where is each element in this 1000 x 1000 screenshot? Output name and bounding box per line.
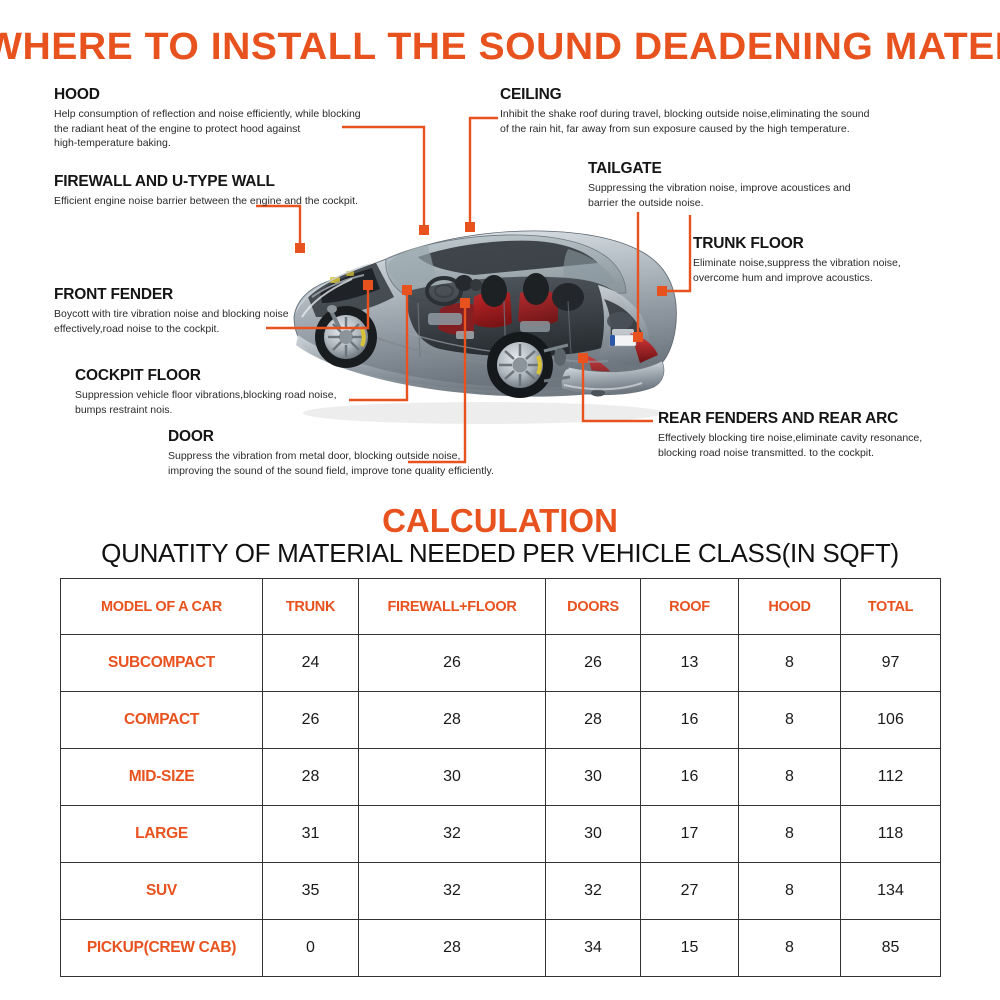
cell-model: LARGE bbox=[61, 806, 263, 863]
material-quantity-table: MODEL OF A CAR TRUNK FIREWALL+FLOOR DOOR… bbox=[60, 578, 941, 977]
callout-hood-body: Help consumption of reflection and noise… bbox=[54, 107, 434, 150]
cell-total: 118 bbox=[841, 806, 941, 863]
calculation-title: CALCULATION bbox=[0, 502, 1000, 540]
column-header-model: MODEL OF A CAR bbox=[61, 579, 263, 635]
cell-total: 112 bbox=[841, 749, 941, 806]
infographic-page: WHERE TO INSTALL THE SOUND DEADENING MAT… bbox=[0, 0, 1000, 1000]
column-header-doors: DOORS bbox=[546, 579, 641, 635]
cell-roof: 16 bbox=[641, 692, 739, 749]
cell-trunk: 24 bbox=[263, 635, 359, 692]
cell-hood: 8 bbox=[739, 635, 841, 692]
callout-firewall-body: Efficient engine noise barrier between t… bbox=[54, 194, 454, 208]
column-header-trunk: TRUNK bbox=[263, 579, 359, 635]
cell-doors: 28 bbox=[546, 692, 641, 749]
table-header-row: MODEL OF A CAR TRUNK FIREWALL+FLOOR DOOR… bbox=[61, 579, 941, 635]
column-header-firewall-floor: FIREWALL+FLOOR bbox=[359, 579, 546, 635]
cell-model: SUBCOMPACT bbox=[61, 635, 263, 692]
cell-firewall-floor: 28 bbox=[359, 692, 546, 749]
callout-front-fender-body: Boycott with tire vibration noise and bl… bbox=[54, 307, 374, 336]
callout-door: DOOR Suppress the vibration from metal d… bbox=[168, 428, 568, 478]
callout-tailgate: TAILGATE Suppressing the vibration noise… bbox=[588, 160, 968, 210]
callout-firewall: FIREWALL AND U-TYPE WALL Efficient engin… bbox=[54, 173, 454, 209]
cell-roof: 15 bbox=[641, 920, 739, 977]
callout-ceiling: CEILING Inhibit the shake roof during tr… bbox=[500, 86, 970, 136]
callout-trunk-floor: TRUNK FLOOR Eliminate noise,suppress the… bbox=[693, 235, 983, 285]
cell-doors: 34 bbox=[546, 920, 641, 977]
cell-doors: 30 bbox=[546, 749, 641, 806]
cell-total: 134 bbox=[841, 863, 941, 920]
cell-trunk: 26 bbox=[263, 692, 359, 749]
cell-hood: 8 bbox=[739, 749, 841, 806]
page-title: WHERE TO INSTALL THE SOUND DEADENING MAT… bbox=[0, 26, 1000, 69]
cell-model: SUV bbox=[61, 863, 263, 920]
callout-hood-heading: HOOD bbox=[54, 86, 434, 103]
cell-hood: 8 bbox=[739, 806, 841, 863]
cell-trunk: 28 bbox=[263, 749, 359, 806]
callout-trunk-floor-body: Eliminate noise,suppress the vibration n… bbox=[693, 256, 983, 285]
callout-tailgate-body: Suppressing the vibration noise, improve… bbox=[588, 181, 968, 210]
cell-trunk: 0 bbox=[263, 920, 359, 977]
cell-roof: 27 bbox=[641, 863, 739, 920]
callout-firewall-heading: FIREWALL AND U-TYPE WALL bbox=[54, 173, 454, 190]
callout-hood: HOOD Help consumption of reflection and … bbox=[54, 86, 434, 151]
cell-doors: 26 bbox=[546, 635, 641, 692]
callout-ceiling-heading: CEILING bbox=[500, 86, 970, 103]
cell-roof: 17 bbox=[641, 806, 739, 863]
cell-roof: 16 bbox=[641, 749, 739, 806]
callout-ceiling-body: Inhibit the shake roof during travel, bl… bbox=[500, 107, 970, 136]
callout-cockpit-floor-body: Suppression vehicle floor vibrations,blo… bbox=[75, 388, 405, 417]
callout-rear-fenders-heading: REAR FENDERS AND REAR ARC bbox=[658, 410, 988, 427]
cell-trunk: 31 bbox=[263, 806, 359, 863]
column-header-total: TOTAL bbox=[841, 579, 941, 635]
cell-firewall-floor: 30 bbox=[359, 749, 546, 806]
callout-rear-fenders-body: Effectively blocking tire noise,eliminat… bbox=[658, 431, 988, 460]
cell-doors: 30 bbox=[546, 806, 641, 863]
table-row: MID-SIZE 28 30 30 16 8 112 bbox=[61, 749, 941, 806]
cell-total: 106 bbox=[841, 692, 941, 749]
cell-total: 97 bbox=[841, 635, 941, 692]
callout-cockpit-floor: COCKPIT FLOOR Suppression vehicle floor … bbox=[75, 367, 405, 417]
table-row: SUBCOMPACT 24 26 26 13 8 97 bbox=[61, 635, 941, 692]
cell-firewall-floor: 26 bbox=[359, 635, 546, 692]
table-row: COMPACT 26 28 28 16 8 106 bbox=[61, 692, 941, 749]
cell-hood: 8 bbox=[739, 920, 841, 977]
callout-front-fender-heading: FRONT FENDER bbox=[54, 286, 374, 303]
cell-hood: 8 bbox=[739, 692, 841, 749]
table-row: SUV 35 32 32 27 8 134 bbox=[61, 863, 941, 920]
cell-doors: 32 bbox=[546, 863, 641, 920]
cell-firewall-floor: 32 bbox=[359, 806, 546, 863]
cell-model: COMPACT bbox=[61, 692, 263, 749]
callout-front-fender: FRONT FENDER Boycott with tire vibration… bbox=[54, 286, 374, 336]
cell-firewall-floor: 32 bbox=[359, 863, 546, 920]
callout-rear-fenders: REAR FENDERS AND REAR ARC Effectively bl… bbox=[658, 410, 988, 460]
calculation-subtitle: QUNATITY OF MATERIAL NEEDED PER VEHICLE … bbox=[0, 538, 1000, 569]
cell-trunk: 35 bbox=[263, 863, 359, 920]
cell-hood: 8 bbox=[739, 863, 841, 920]
cell-firewall-floor: 28 bbox=[359, 920, 546, 977]
callout-door-heading: DOOR bbox=[168, 428, 568, 445]
cell-total: 85 bbox=[841, 920, 941, 977]
callout-tailgate-heading: TAILGATE bbox=[588, 160, 968, 177]
callout-cockpit-floor-heading: COCKPIT FLOOR bbox=[75, 367, 405, 384]
cell-model: MID-SIZE bbox=[61, 749, 263, 806]
table-row: LARGE 31 32 30 17 8 118 bbox=[61, 806, 941, 863]
cell-model: PICKUP(CREW CAB) bbox=[61, 920, 263, 977]
column-header-hood: HOOD bbox=[739, 579, 841, 635]
cell-roof: 13 bbox=[641, 635, 739, 692]
column-header-roof: ROOF bbox=[641, 579, 739, 635]
callout-door-body: Suppress the vibration from metal door, … bbox=[168, 449, 568, 478]
table-row: PICKUP(CREW CAB) 0 28 34 15 8 85 bbox=[61, 920, 941, 977]
callout-trunk-floor-heading: TRUNK FLOOR bbox=[693, 235, 983, 252]
